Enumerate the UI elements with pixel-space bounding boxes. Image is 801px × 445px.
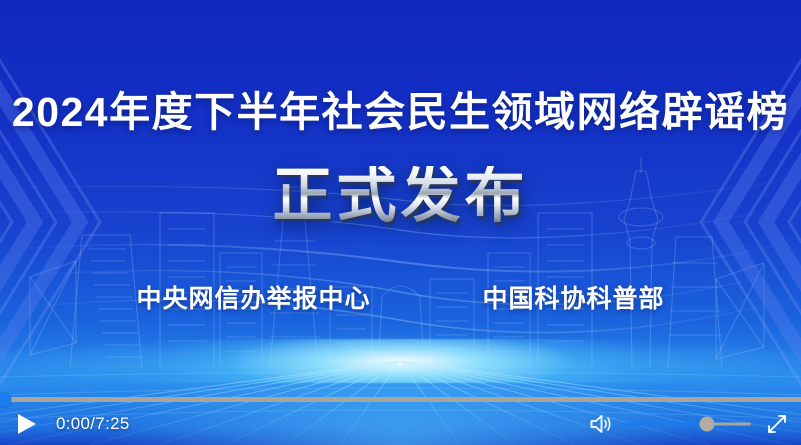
fullscreen-icon xyxy=(766,413,788,435)
cityscape-silhouette xyxy=(0,157,801,367)
chevron-decoration-left xyxy=(0,0,210,445)
volume-slider-handle[interactable] xyxy=(700,416,715,431)
poster-main-title: 2024年度下半年社会民生领域网络辟谣榜 xyxy=(0,92,801,133)
controls-row: 0:00/7:25 xyxy=(0,402,801,445)
fullscreen-button[interactable] xyxy=(763,410,791,438)
video-poster-frame[interactable]: 2024年度下半年社会民生领域网络辟谣榜 正式发布 中央网信办举报中心 中国科协… xyxy=(0,0,801,445)
time-display: 0:00/7:25 xyxy=(56,414,130,434)
light-streaks-decoration xyxy=(0,0,801,445)
volume-slider[interactable] xyxy=(623,417,751,431)
volume-icon xyxy=(589,413,613,435)
organization-name-2: 中国科协科普部 xyxy=(483,287,665,312)
poster-sub-title: 正式发布 xyxy=(0,166,801,226)
play-button[interactable] xyxy=(12,409,42,439)
play-icon xyxy=(16,412,38,436)
player-controls-bar[interactable]: 0:00/7:25 xyxy=(0,397,801,445)
horizon-glow xyxy=(0,339,801,383)
volume-button[interactable] xyxy=(587,410,615,438)
volume-slider-fill xyxy=(623,422,707,425)
video-player[interactable]: 2024年度下半年社会民生领域网络辟谣榜 正式发布 中央网信办举报中心 中国科协… xyxy=(0,0,801,445)
poster-organizations: 中央网信办举报中心 中国科协科普部 xyxy=(0,287,801,312)
chevron-decoration-right xyxy=(591,0,801,445)
organization-name-1: 中央网信办举报中心 xyxy=(136,287,370,312)
